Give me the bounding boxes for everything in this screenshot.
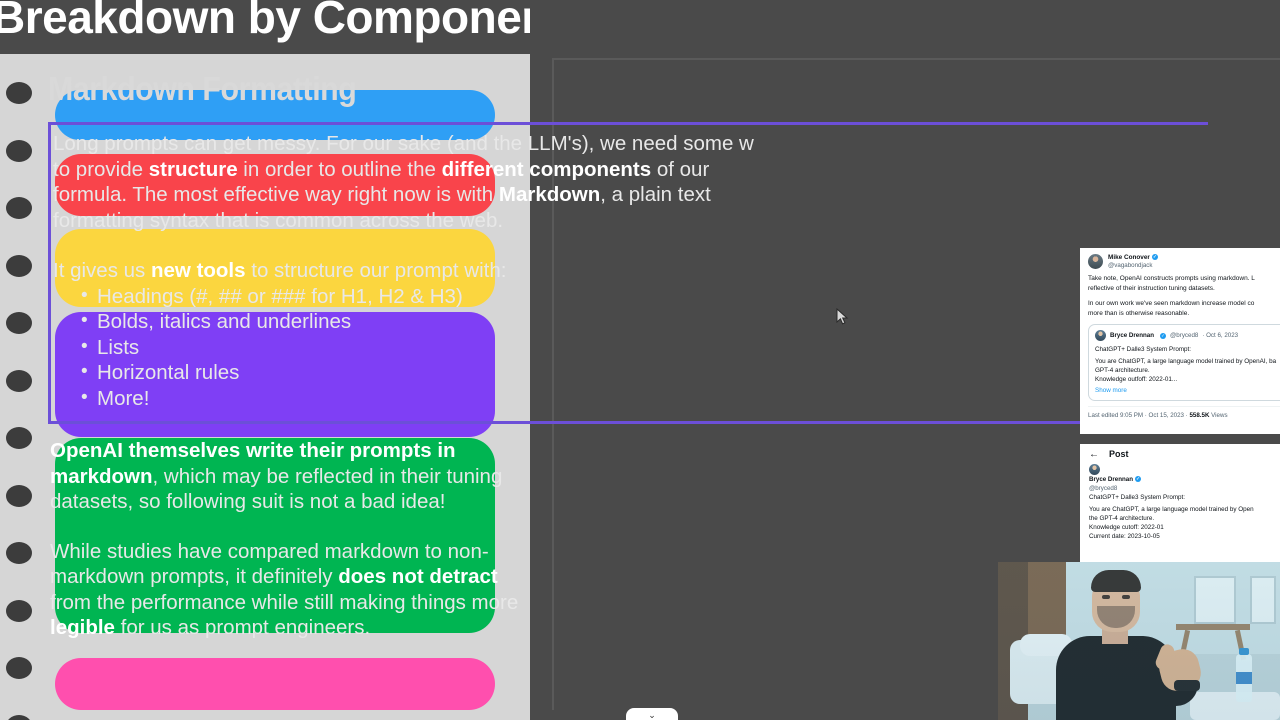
quoted-avatar (1095, 330, 1106, 341)
quoted-line-1: You are ChatGPT, a large language model … (1095, 357, 1280, 366)
quoted-title: ChatGPT+ Dalle3 System Prompt: (1095, 345, 1280, 354)
binder-hole (6, 542, 32, 564)
avatar (1088, 254, 1103, 269)
post-title: ChatGPT+ Dalle3 System Prompt: (1089, 493, 1280, 502)
webcam-person-watch (1174, 680, 1200, 691)
binder-hole (6, 657, 32, 679)
tools-list-item: Headings (#, ## or ### for H1, H2 & H3) (81, 284, 808, 310)
markdown-document: Markdown Formatting Long prompts can get… (48, 70, 808, 641)
post-verified-badge-icon: ✓ (1135, 476, 1141, 482)
binder-hole (6, 82, 32, 104)
tweet-footer: Last edited 9:05 PM · Oct 15, 2023 · 558… (1088, 406, 1280, 420)
webcam-bottle-cap (1239, 648, 1249, 655)
block-pink (55, 658, 495, 710)
tweet-header: Mike Conover✓ @vagabondjack (1088, 254, 1280, 269)
quoted-tweet[interactable]: Bryce Drennan ✓ @bryced8 · Oct 6, 2023 C… (1088, 324, 1280, 401)
post-avatar (1089, 464, 1100, 475)
post-body: Bryce Drennan✓ @bryced8 ChatGPT+ Dalle3 … (1080, 464, 1280, 541)
tweet-handle: @vagabondjack (1108, 262, 1158, 270)
quoted-tweet-header: Bryce Drennan ✓ @bryced8 · Oct 6, 2023 (1095, 330, 1280, 341)
binder-hole (6, 600, 32, 622)
post-line-4: Current date: 2023-10-05 (1089, 532, 1280, 541)
binder-holes (0, 54, 48, 720)
binder-hole (6, 370, 32, 392)
quoted-display-name: Bryce Drennan (1110, 331, 1154, 340)
binder-hole (6, 715, 32, 720)
highlighted-section: Long prompts can get messy. For our sake… (48, 122, 808, 424)
webcam-window (1194, 576, 1236, 624)
webcam-person-eye-left (1102, 595, 1110, 599)
post-header-bar: ← Post (1080, 444, 1280, 464)
bottom-collapse-tab[interactable]: ⌄ (626, 708, 678, 720)
tweet-body: Take note, OpenAI constructs prompts usi… (1088, 274, 1280, 318)
binder-hole (6, 427, 32, 449)
chevron-down-icon: ⌄ (648, 711, 656, 719)
quoted-line-3: Knowledge outfoff: 2022-01... (1095, 375, 1280, 384)
post-author-header: Bryce Drennan✓ @bryced8 (1089, 464, 1280, 493)
webcam-overlay[interactable] (998, 562, 1280, 720)
studies-paragraph: While studies have compared markdown to … (50, 539, 520, 641)
back-arrow-icon[interactable]: ← (1089, 450, 1099, 459)
tools-list: Headings (#, ## or ### for H1, H2 & H3)B… (81, 284, 808, 412)
binder-hole (6, 197, 32, 219)
webcam-person-eye-right (1122, 595, 1130, 599)
post-line-2: the GPT-4 architecture. (1089, 514, 1280, 523)
paragraph-line-4: formatting syntax that is common across … (53, 208, 808, 234)
tools-list-item: Horizontal rules (81, 360, 808, 386)
binder-hole (6, 312, 32, 334)
binder-hole (6, 140, 32, 162)
tweet-display-name: Mike Conover✓ (1108, 254, 1158, 262)
verified-badge-icon: ✓ (1152, 254, 1158, 260)
webcam-desk (1190, 692, 1280, 720)
paragraph-line-1: Long prompts can get messy. For our sake… (53, 131, 808, 157)
paragraph-line-2: to provide structure in order to outline… (53, 157, 808, 183)
tweet-card-conover[interactable]: Mike Conover✓ @vagabondjack Take note, O… (1080, 248, 1280, 434)
webcam-bottle-label (1236, 672, 1252, 684)
tweet-body-1: Take note, OpenAI constructs prompts usi… (1088, 274, 1280, 293)
tools-list-item: More! (81, 386, 808, 412)
studies-paragraph-wrap: While studies have compared markdown to … (48, 539, 518, 641)
show-more-link[interactable]: Show more (1095, 386, 1280, 395)
screenshot-root: Breakdown by Component Markdown Formatti… (0, 0, 1280, 720)
binder-hole (6, 255, 32, 277)
paragraph-line-3: formula. The most effective way right no… (53, 182, 808, 208)
tweet-author: Mike Conover✓ @vagabondjack (1108, 254, 1158, 269)
post-line-1: You are ChatGPT, a large language model … (1089, 505, 1280, 514)
binder-hole (6, 485, 32, 507)
paragraph-spacer (51, 233, 808, 258)
post-line-3: Knowledge cutoff: 2022-01 (1089, 523, 1280, 532)
openai-paragraph-wrap: OpenAI themselves write their prompts in… (48, 438, 548, 515)
post-handle: @bryced8 (1089, 484, 1280, 493)
tweet-body-2: In our own work we've seen markdown incr… (1088, 299, 1280, 318)
quoted-verified-badge-icon: ✓ (1160, 333, 1166, 339)
post-display-name: Bryce Drennan✓ (1089, 475, 1280, 484)
tools-list-item: Bolds, italics and underlines (81, 309, 808, 335)
openai-paragraph: OpenAI themselves write their prompts in… (50, 438, 550, 515)
webcam-person-hair (1091, 570, 1141, 592)
tools-list-item: Lists (81, 335, 808, 361)
quoted-date: · Oct 6, 2023 (1202, 331, 1238, 340)
quoted-handle: @bryced8 (1170, 331, 1198, 340)
document-heading: Markdown Formatting (48, 70, 747, 108)
post-header-title: Post (1109, 450, 1129, 459)
mouse-cursor (836, 308, 850, 326)
webcam-window-2 (1250, 576, 1276, 624)
tools-intro: It gives us new tools to structure our p… (53, 258, 808, 284)
quoted-line-2: GPT-4 architecture. (1095, 366, 1280, 375)
